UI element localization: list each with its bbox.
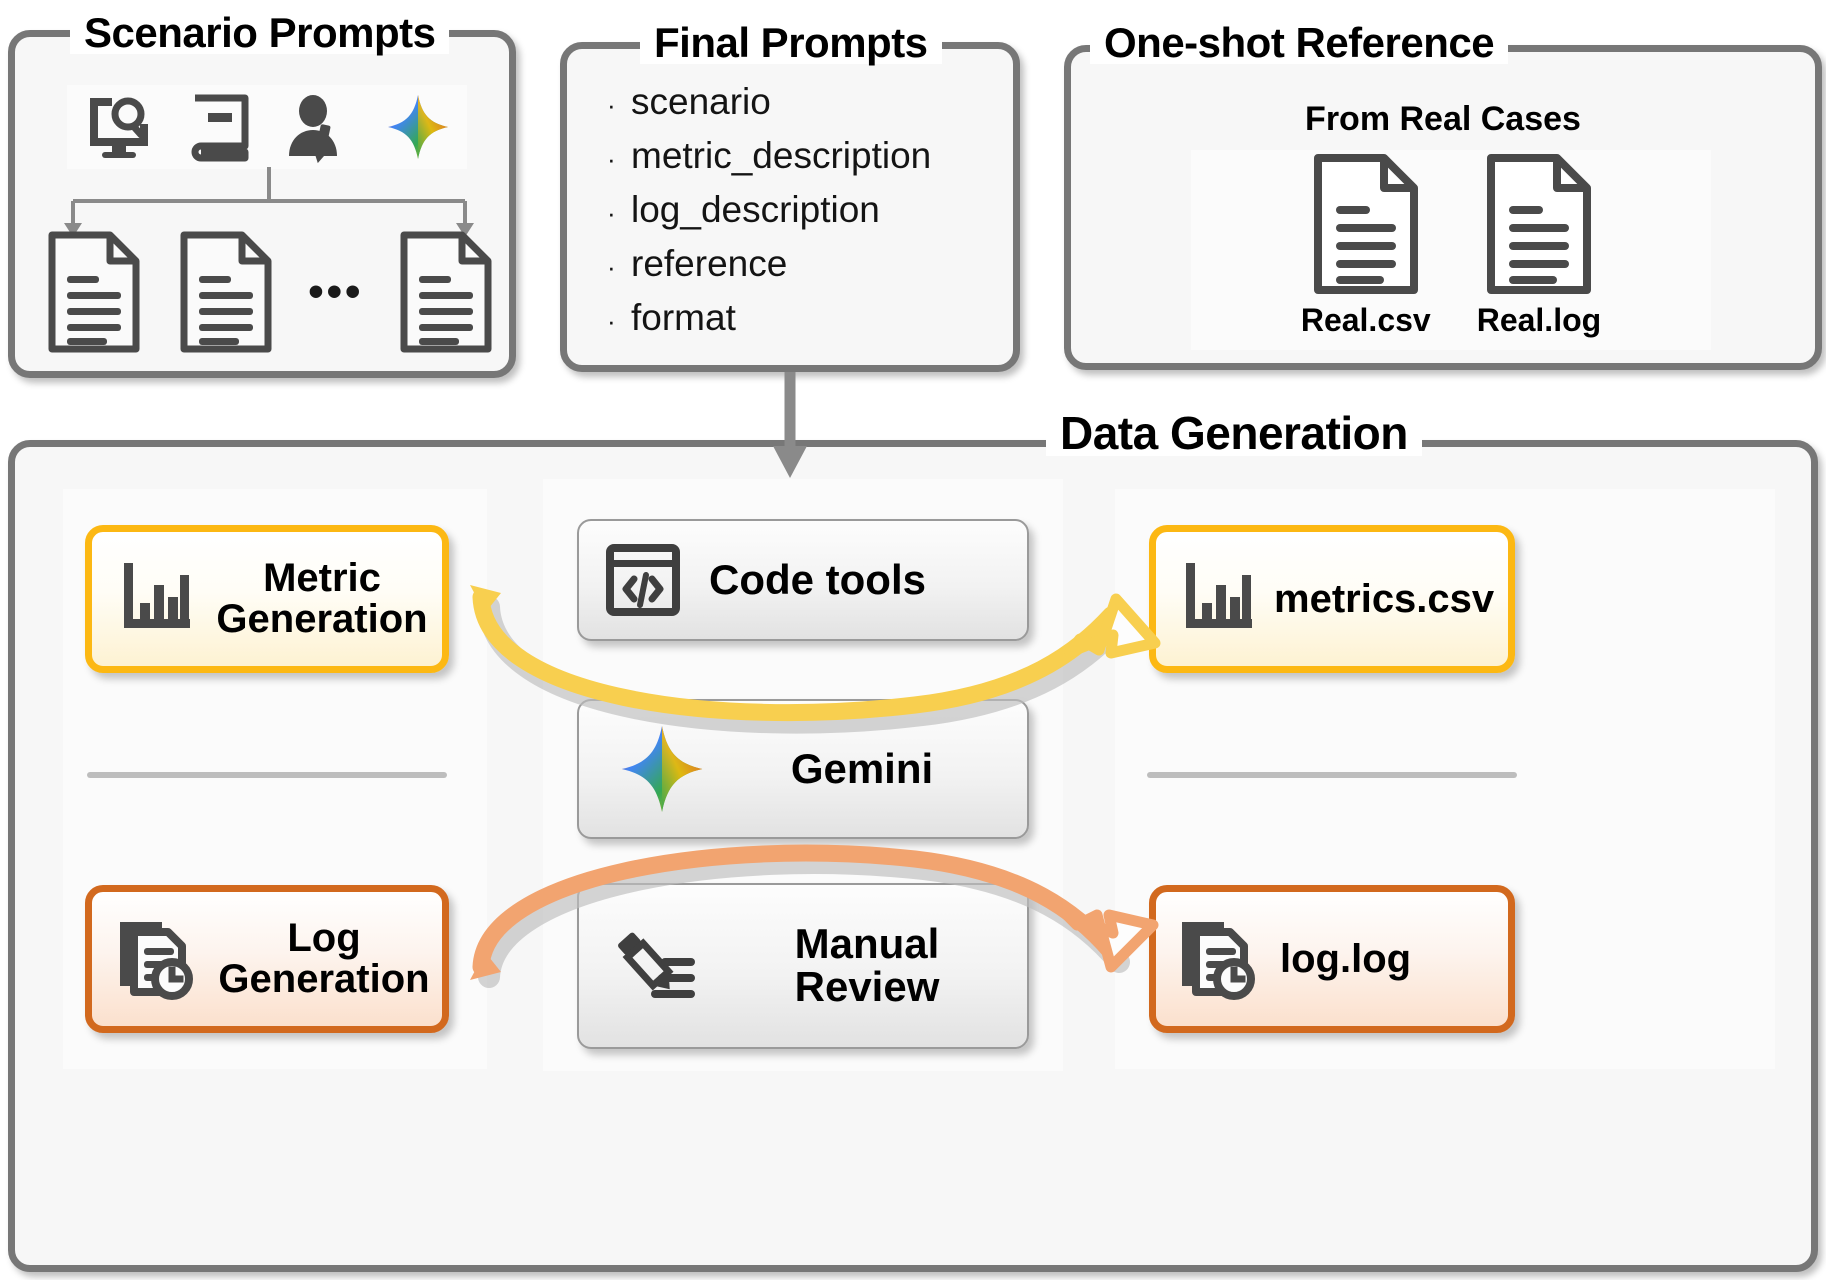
oneshot-subtitle: From Real Cases [1071,100,1815,139]
bar-chart-icon [1176,557,1258,641]
list-item: Real.log [1477,150,1601,339]
ellipsis-label: ••• [308,267,363,317]
log-generation-card[interactable]: LogGeneration [85,885,449,1033]
right-column-divider [1147,772,1517,778]
document-icon [177,228,275,356]
metric-generation-label: MetricGeneration [202,558,442,640]
gemini-card[interactable]: Gemini [577,699,1029,839]
pencil-lines-icon [611,926,703,1006]
bullet-icon: · [607,87,631,125]
list-item-label: log_description [631,183,880,237]
data-generation-panel: MetricGeneration LogGeneration [8,440,1818,1272]
document-icon [397,228,495,356]
final-prompts-title: Final Prompts [640,22,942,64]
list-item-label: metric_description [631,129,931,183]
metric-generation-card[interactable]: MetricGeneration [85,525,449,673]
bullet-icon: · [607,303,631,341]
final-prompts-list: · scenario · metric_description · log_de… [607,75,931,345]
oneshot-reference-panel: From Real Cases [1064,45,1822,370]
diagram-canvas: ••• Scenario Prompts · [0,0,1826,1280]
metrics-csv-card[interactable]: metrics.csv [1149,525,1515,673]
list-item: Real.csv [1301,150,1431,339]
list-item: · log_description [607,183,931,237]
document-icon [1483,150,1595,298]
gemini-spark-icon [619,723,705,815]
document-icon [1310,150,1422,298]
bar-chart-icon [114,557,196,641]
monitor-search-icon [84,94,154,160]
log-log-label: log.log [1280,939,1411,980]
scenario-prompts-panel: ••• [8,30,516,378]
scenario-documents: ••• [45,227,495,357]
bullet-icon: · [607,249,631,287]
scenario-prompts-title: Scenario Prompts [70,12,449,54]
code-tools-card[interactable]: Code tools [577,519,1029,641]
left-column-divider [87,772,447,778]
scenario-icon-strip [67,85,467,169]
log-clock-icon [1176,916,1262,1002]
file-label: Real.log [1477,302,1601,339]
manual-review-card[interactable]: ManualReview [577,883,1029,1049]
list-item-label: reference [631,237,787,291]
file-label: Real.csv [1301,302,1431,339]
code-tools-label: Code tools [709,559,926,602]
list-item: · reference [607,237,931,291]
final-prompts-panel: · scenario · metric_description · log_de… [560,42,1020,372]
log-generation-label: LogGeneration [206,918,442,1000]
metrics-csv-label: metrics.csv [1274,579,1494,620]
oneshot-file-list: Real.csv Re [1191,150,1711,350]
gemini-label: Gemini [697,748,1027,791]
list-item: · scenario [607,75,931,129]
log-clock-icon [114,916,200,1002]
gemini-spark-icon [386,93,450,161]
code-window-icon [605,543,681,617]
user-edit-icon [285,94,351,160]
book-icon [189,94,251,160]
data-generation-title: Data Generation [1046,410,1422,456]
manual-review-label: ManualReview [707,923,1027,1009]
list-item-label: format [631,291,736,345]
list-item: · format [607,291,931,345]
log-log-card[interactable]: log.log [1149,885,1515,1033]
list-item-label: scenario [631,75,771,129]
list-item: · metric_description [607,129,931,183]
oneshot-reference-title: One-shot Reference [1090,22,1508,64]
document-icon [45,228,143,356]
bullet-icon: · [607,141,631,179]
bullet-icon: · [607,195,631,233]
